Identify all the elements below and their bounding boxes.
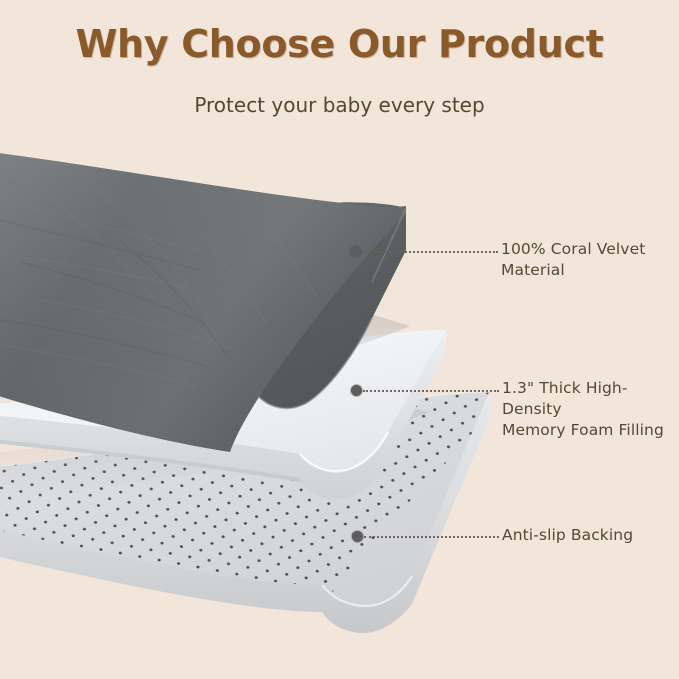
- callout-leader-line: [362, 251, 498, 253]
- callout-leader-line: [364, 536, 499, 538]
- callout-marker-icon: [350, 246, 361, 257]
- page-subtitle: Protect your baby every step: [0, 93, 679, 117]
- callout-marker-icon: [352, 531, 363, 542]
- page-title: Why Choose Our Product: [0, 22, 679, 66]
- callout-label-anti-slip: Anti-slip Backing: [502, 525, 679, 546]
- product-infographic: Why Choose Our Product Protect your baby…: [0, 0, 679, 679]
- callout-label-memory-foam: 1.3" Thick High-Density Memory Foam Fill…: [502, 378, 679, 441]
- callout-label-coral-velvet: 100% Coral Velvet Material: [501, 239, 679, 281]
- callout-leader-line: [363, 390, 499, 392]
- callout-marker-icon: [351, 385, 362, 396]
